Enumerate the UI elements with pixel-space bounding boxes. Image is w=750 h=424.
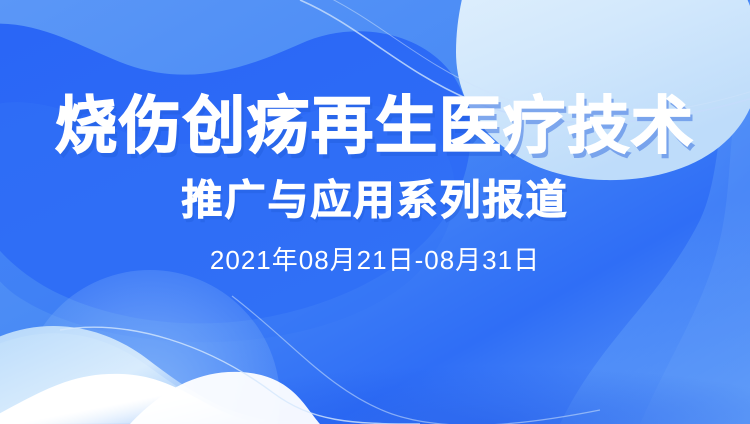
banner-text-stack: 烧伤创疡再生医疗技术 推广与应用系列报道 2021年08月21日-08月31日 <box>0 0 750 424</box>
banner-date-range: 2021年08月21日-08月31日 <box>210 247 540 273</box>
promo-banner: 烧伤创疡再生医疗技术 推广与应用系列报道 2021年08月21日-08月31日 <box>0 0 750 424</box>
banner-title-sub: 推广与应用系列报道 <box>182 180 569 221</box>
banner-title-main: 烧伤创疡再生医疗技术 <box>55 96 695 158</box>
